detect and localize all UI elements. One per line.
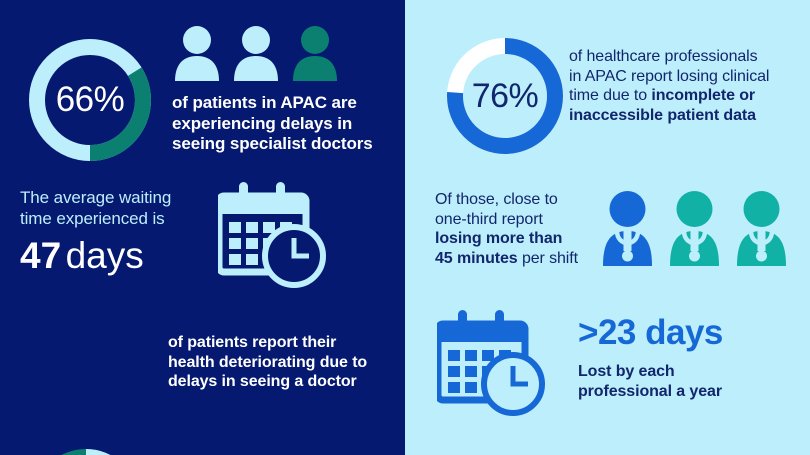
donut-chart-33: 33% — [27, 443, 145, 455]
caption-clinical-time: of healthcare professionals in APAC repo… — [569, 47, 809, 125]
caption-seg-bold: incomplete or — [651, 87, 755, 104]
caption-seg-bold: 45 minutes — [435, 250, 518, 267]
caption-line: delays in seeing a doctor — [168, 372, 390, 392]
calendar-clock-svg — [218, 182, 328, 290]
doctor-icon — [667, 190, 722, 268]
caption-line: health deteriorating due to — [168, 353, 390, 373]
caption-line: 45 minutes per shift — [435, 249, 610, 269]
person-icon — [231, 25, 281, 83]
donut-66-value: 66% — [22, 32, 158, 168]
infographic-root: 66% of patients in APAC are experiencing… — [0, 0, 810, 455]
caption-minutes-lost: Of those, close to one-third report losi… — [435, 190, 610, 268]
caption-health-deteriorating: of patients report their health deterior… — [168, 333, 390, 392]
stat-waiting-time: The average waiting time experienced is … — [20, 188, 200, 277]
caption-line: inaccessible patient data — [569, 106, 809, 126]
donut-76-value: 76% — [441, 32, 569, 160]
caption-seg: per shift — [518, 250, 578, 267]
days-lost-value: >23 days — [578, 313, 803, 353]
caption-line: Of those, close to — [435, 190, 610, 210]
calendar-header — [438, 324, 525, 342]
caption-line: time due to incomplete or — [569, 86, 809, 106]
lead-line: The average waiting — [20, 188, 200, 209]
caption-line: of healthcare professionals — [569, 47, 809, 67]
doctor-icon — [600, 190, 655, 268]
caption-line: of patients in APAC are — [172, 93, 387, 114]
sub-line: Lost by each — [578, 362, 803, 382]
person-icon — [172, 25, 222, 83]
calendar-clock-icon — [218, 182, 328, 295]
caption-line: seeing specialist doctors — [172, 134, 387, 155]
waiting-time-lead: The average waiting time experienced is — [20, 188, 200, 229]
caption-line: in APAC report losing clinical — [569, 67, 809, 87]
caption-line: of patients report their — [168, 333, 390, 353]
calendar-header — [219, 196, 306, 214]
calendar-ring-right — [495, 310, 504, 334]
person-icon — [290, 25, 340, 83]
calendar-clock-icon — [437, 310, 549, 423]
days-lost-sub: Lost by each professional a year — [578, 362, 803, 401]
right-panel: 76% of healthcare professionals in APAC … — [405, 0, 810, 455]
doctor-icon-group — [600, 190, 789, 268]
waiting-time-number: 47 — [20, 235, 61, 276]
lead-line: time experienced is — [20, 209, 200, 230]
caption-patients-delays: of patients in APAC are experiencing del… — [172, 93, 387, 155]
donut-33-value: 33% — [27, 443, 145, 455]
waiting-time-unit: days — [66, 235, 144, 276]
waiting-time-value: 47 days — [20, 235, 200, 277]
people-icon-group — [172, 25, 340, 83]
caption-line: experiencing delays in — [172, 114, 387, 135]
stat-days-lost: >23 days Lost by each professional a yea… — [578, 313, 803, 401]
doctor-icon — [734, 190, 789, 268]
sub-line: professional a year — [578, 382, 803, 402]
calendar-clock-svg — [437, 310, 549, 418]
donut-chart-66: 66% — [22, 32, 158, 168]
calendar-ring-left — [458, 310, 467, 334]
left-panel: 66% of patients in APAC are experiencing… — [0, 0, 405, 455]
caption-line: one-third report — [435, 210, 610, 230]
donut-chart-76: 76% — [441, 32, 569, 160]
caption-seg: time due to — [569, 87, 651, 104]
caption-line: losing more than — [435, 229, 610, 249]
